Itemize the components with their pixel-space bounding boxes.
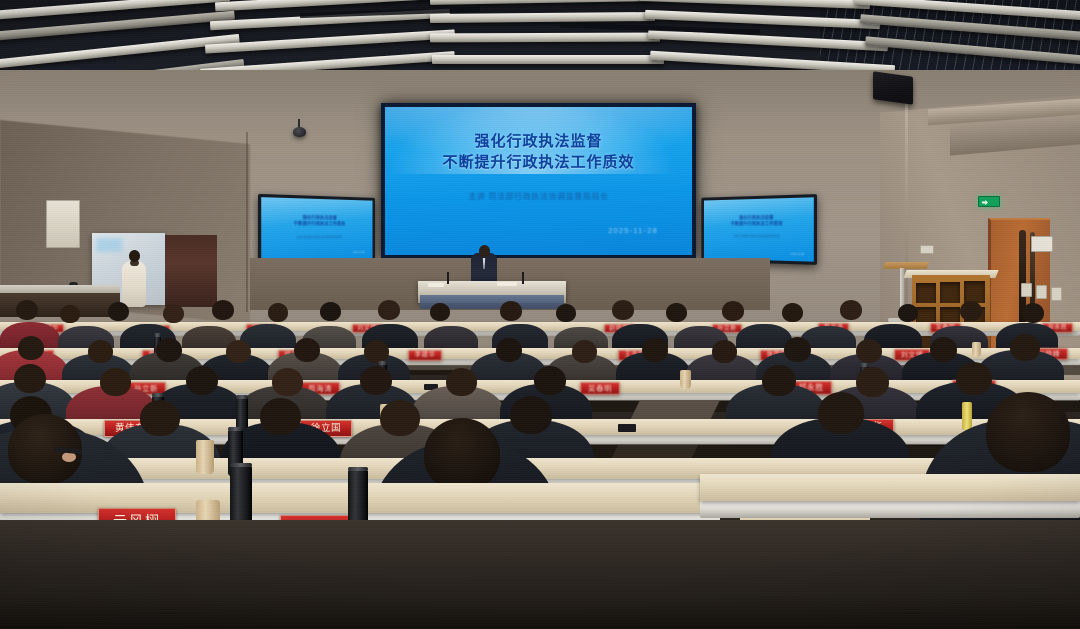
shelf-cell: [916, 283, 936, 303]
ceiling-baffle: [430, 33, 660, 43]
attendee-head: [446, 368, 477, 396]
attendee-head: [360, 366, 392, 395]
attendee-head: [212, 300, 234, 320]
attendee-head: [840, 300, 862, 320]
cup: [972, 342, 981, 357]
wall-seam: [246, 132, 248, 312]
attendee-head: [320, 302, 341, 321]
attendee-head: [18, 336, 44, 360]
desk-top-front-right: [700, 474, 1080, 501]
projection-screen: 强化行政执法监督 不断提升行政执法工作质效 主讲 司法部行政执法协调监督局局长 …: [381, 103, 696, 259]
attendee-head: [108, 302, 129, 321]
monitor-left-title: 强化行政执法监督 不断提升行政执法工作质效: [261, 214, 372, 227]
wall-outlet-icon: [1051, 287, 1062, 301]
ceiling-baffle: [640, 0, 870, 9]
standing-attendant-head: [129, 250, 140, 262]
attendee-head: [784, 337, 811, 362]
attendee-head: [14, 364, 46, 393]
side-monitor-left-screen: 强化行政执法监督 不断提升行政执法工作质效 主讲 司法部行政执法协调监督局局长 …: [261, 197, 372, 263]
attendee-head: [1022, 303, 1044, 323]
attendee-head: [378, 300, 400, 320]
cup: [680, 370, 691, 389]
wall-speaker-icon: [873, 71, 913, 105]
attendee-head: [782, 303, 803, 322]
attendee-head: [960, 301, 982, 321]
attendee-head: [956, 362, 992, 395]
standing-attendant: [120, 250, 148, 306]
attendee-head: [612, 300, 634, 320]
shelf-cell: [940, 282, 960, 303]
attendee-head: [712, 340, 737, 363]
side-table: [883, 262, 929, 269]
attendee-head: [88, 340, 113, 363]
attendee-head: [642, 338, 668, 362]
side-monitor-right-screen: 强化行政执法监督 不断提升行政执法工作质效 主讲 司法部行政执法协调监督局局长 …: [704, 197, 814, 261]
attendee-head: [500, 301, 522, 321]
dome-camera-icon: [293, 127, 306, 137]
ceiling-baffle: [432, 55, 664, 64]
attendee-head: [762, 365, 796, 396]
left-wall-panel-box: [46, 200, 80, 248]
attendee-head: [380, 400, 420, 436]
wall-outlet-icon: [1036, 285, 1047, 299]
attendee-head: [140, 400, 180, 436]
microphone-icon: [522, 272, 524, 284]
nameplate: 吴春明: [580, 382, 620, 395]
bottle: [962, 402, 972, 430]
attendee-head: [260, 398, 301, 435]
stage-presenter-head: [479, 245, 490, 257]
desk-edge-front-right: [700, 500, 1080, 518]
slide-title: 强化行政执法监督 不断提升行政执法工作质效: [385, 131, 692, 173]
attendee-head-front-right: [986, 392, 1070, 472]
attendee-head: [163, 304, 184, 323]
monitor-left-date: 2025-11-28: [353, 251, 365, 254]
wall-outlet-icon: [1021, 283, 1032, 297]
side-monitor-right: 强化行政执法监督 不断提升行政执法工作质效 主讲 司法部行政执法协调监督局局长 …: [701, 194, 817, 265]
attendee-head: [818, 392, 864, 434]
standing-attendant-body: [122, 261, 146, 307]
cup: [196, 440, 214, 474]
projection-screen-surface: 强化行政执法监督 不断提升行政执法工作质效 主讲 司法部行政执法协调监督局局长 …: [385, 107, 692, 255]
conference-hall-photo: 强化行政执法监督 不断提升行政执法工作质效 主讲 司法部行政执法协调监督局局长 …: [0, 0, 1080, 629]
attendee-head: [572, 340, 597, 363]
attendee-head: [60, 305, 80, 323]
attendee-head: [556, 304, 576, 322]
attendee-head: [1010, 334, 1040, 361]
shelf-cell: [964, 281, 985, 303]
slide-subtitle: 主讲 司法部行政执法协调监督局局长: [385, 191, 692, 202]
wall-outlet-icon: [920, 245, 934, 254]
attendee-head: [294, 338, 320, 362]
attendee-head: [722, 301, 744, 321]
floor: [0, 520, 1080, 629]
attendee-head: [856, 339, 882, 363]
attendee-head: [496, 338, 522, 362]
attendee-head: [16, 300, 38, 320]
nameplate: 李建华: [408, 350, 442, 361]
attendee-head-front-center: [424, 418, 500, 490]
slide-date: 2025-11-28: [608, 226, 658, 235]
microphone-icon: [447, 272, 449, 284]
monitor-right-date: 2025-11-28: [791, 252, 805, 255]
attendee-head: [268, 303, 288, 322]
ceiling-baffle: [430, 0, 650, 5]
podium-paper: [428, 283, 444, 287]
side-monitor-left: 强化行政执法监督 不断提升行政执法工作质效 主讲 司法部行政执法协调监督局局长 …: [258, 194, 375, 266]
attendee-head: [856, 367, 889, 397]
attendee-head: [930, 337, 957, 362]
attendee-head: [186, 366, 218, 395]
exit-sign-icon: [978, 196, 1000, 207]
monitor-right-title: 强化行政执法监督 不断提升行政执法工作质效: [704, 214, 814, 227]
monitor-left-subtitle: 主讲 司法部行政执法协调监督局局长: [261, 235, 372, 240]
attendee-head: [226, 340, 251, 363]
attendee-head: [272, 368, 303, 396]
slide-title-line2: 不断提升行政执法工作质效: [385, 152, 692, 173]
attendee-head: [510, 396, 552, 434]
monitor-left-title-line2: 不断提升行政执法工作质效: [261, 221, 372, 228]
phone: [618, 424, 636, 432]
attendee-head: [156, 338, 182, 362]
attendee-head: [666, 303, 687, 322]
attendee-head: [100, 368, 131, 396]
ceiling-baffle: [205, 29, 455, 53]
ceiling-baffle: [430, 12, 655, 23]
wall-control-panel[interactable]: [1031, 236, 1053, 252]
attendee-head: [364, 340, 389, 363]
attendee-head: [898, 304, 918, 322]
monitor-right-subtitle: 主讲 司法部行政执法协调监督局局长: [704, 234, 814, 239]
podium-paper: [497, 282, 517, 286]
slide-title-line1: 强化行政执法监督: [385, 131, 692, 152]
monitor-right-title-line2: 不断提升行政执法工作质效: [704, 220, 814, 227]
attendee-head: [430, 303, 450, 321]
attendee-head: [534, 366, 566, 395]
wooden-cabinet: [165, 235, 217, 307]
